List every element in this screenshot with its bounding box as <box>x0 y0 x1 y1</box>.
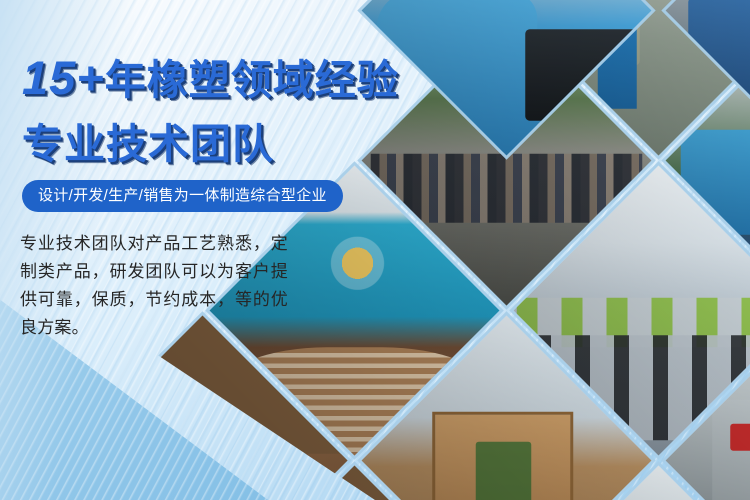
promotional-banner: 15+年橡塑领域经验 专业技术团队 设计/开发/生产/销售为一体制造综合型企业 … <box>0 0 750 500</box>
headline-line-1: 15+年橡塑领域经验 <box>22 52 452 116</box>
headline-years-number: 15+ <box>22 51 105 104</box>
text-content: 15+年橡塑领域经验 专业技术团队 设计/开发/生产/销售为一体制造综合型企业 … <box>0 0 470 500</box>
capability-badge: 设计/开发/生产/销售为一体制造综合型企业 <box>22 180 343 212</box>
headline-line-1-text: 年橡塑领域经验 <box>105 57 399 103</box>
headline-line-2-text: 专业技术团队 <box>22 121 274 167</box>
headline: 15+年橡塑领域经验 专业技术团队 <box>22 52 452 180</box>
headline-line-2: 专业技术团队 <box>22 118 452 180</box>
body-paragraph: 专业技术团队对产品工艺熟悉，定制类产品，研发团队可以为客户提供可靠，保质，节约成… <box>20 230 288 342</box>
